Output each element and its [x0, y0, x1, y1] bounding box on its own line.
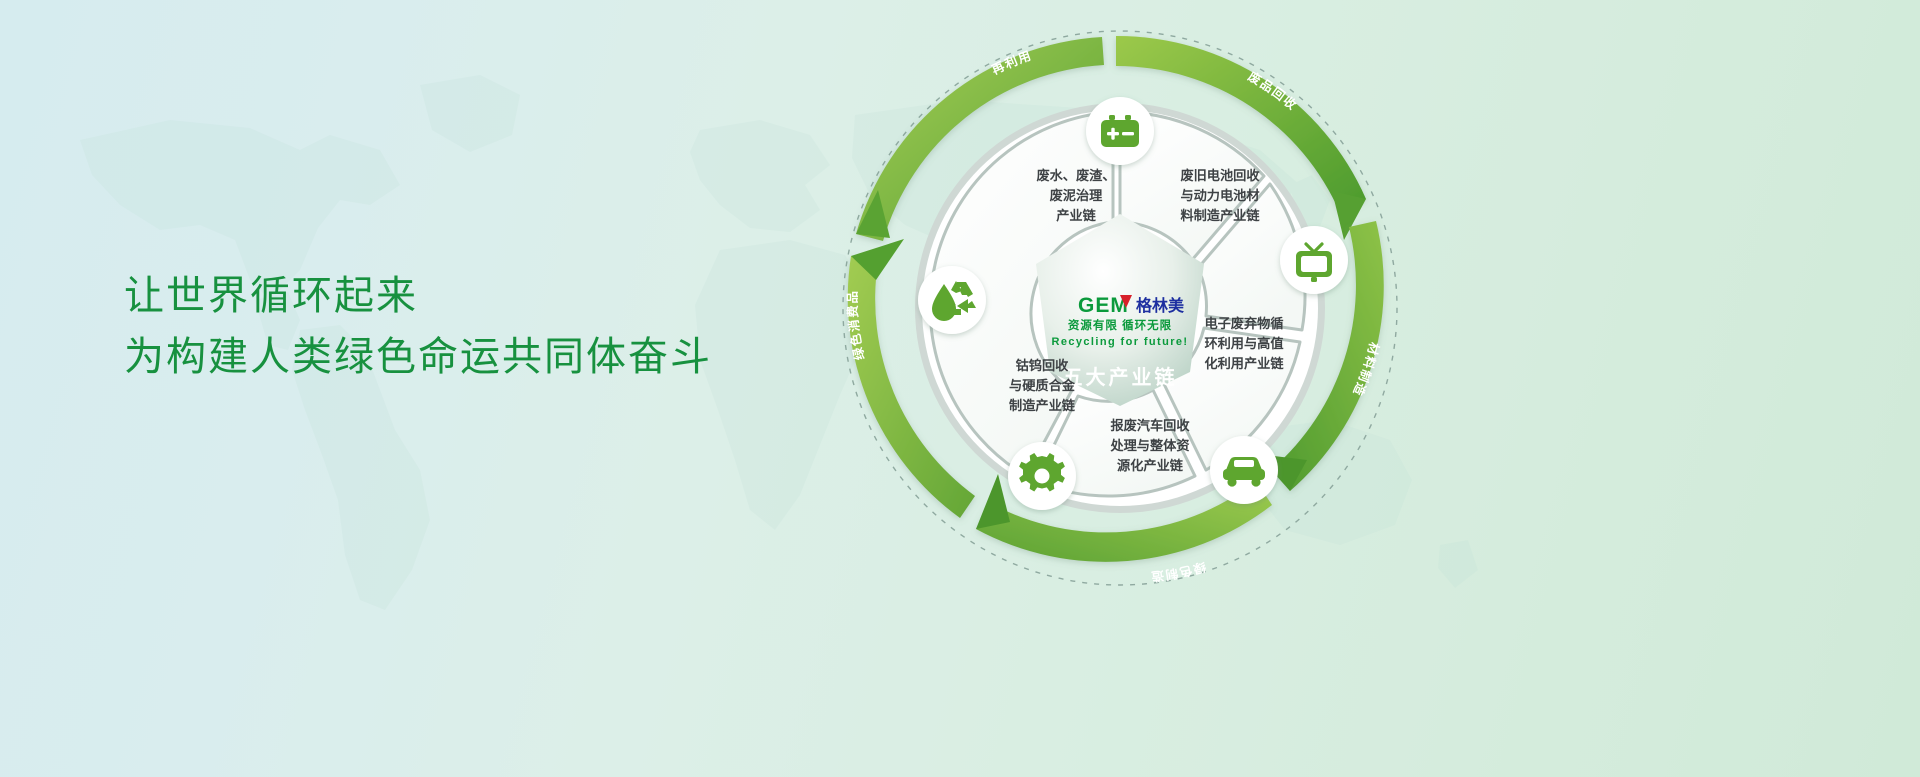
- svg-text:源化产业链: 源化产业链: [1117, 457, 1184, 473]
- label-cobalt-tungsten: 钴钨回收 与硬质合金 制造产业链: [1009, 357, 1076, 413]
- label-scrap-car: 报废汽车回收 处理与整体资 源化产业链: [1109, 417, 1190, 473]
- svg-text:与硬质合金: 与硬质合金: [1009, 377, 1076, 393]
- logo-company-name-cn: 格林美: [1136, 296, 1185, 315]
- center-title: 五大产业链: [1063, 365, 1178, 389]
- svg-text:处理与整体资: 处理与整体资: [1109, 437, 1189, 453]
- logo-slogan-cn: 资源有限 循环无限: [1068, 318, 1172, 332]
- svg-text:报废汽车回收: 报废汽车回收: [1110, 417, 1190, 433]
- svg-text:废泥治理: 废泥治理: [1050, 187, 1103, 203]
- headline-line-1: 让世界循环起来: [124, 266, 712, 327]
- diagram-svg: 废品回收 材料制造 绿色制造 绿色消费品 再利用 GEM 格林美 资源有限 循环…: [820, 8, 1420, 608]
- svg-text:制造产业链: 制造产业链: [1009, 397, 1076, 413]
- svg-text:钴钨回收: 钴钨回收: [1016, 357, 1070, 373]
- svg-text:电子废弃物循: 电子废弃物循: [1204, 315, 1283, 331]
- svg-text:废旧电池回收: 废旧电池回收: [1180, 167, 1260, 183]
- svg-text:与动力电池材: 与动力电池材: [1180, 187, 1259, 203]
- logo-slogan-en: Recycling for future!: [1052, 336, 1189, 348]
- headline-line-2: 为构建人类绿色命运共同体奋斗: [124, 327, 712, 388]
- label-e-waste: 电子废弃物循 环利用与高值 化利用产业链: [1204, 315, 1284, 371]
- svg-text:废水、废渣、: 废水、废渣、: [1036, 167, 1115, 183]
- svg-text:料制造产业链: 料制造产业链: [1180, 207, 1260, 223]
- svg-text:环利用与高值: 环利用与高值: [1204, 335, 1283, 351]
- svg-text:产业链: 产业链: [1056, 207, 1096, 223]
- page-headline: 让世界循环起来 为构建人类绿色命运共同体奋斗: [124, 266, 712, 388]
- arc-label-green-manufacture: 绿色制造: [1149, 559, 1207, 584]
- label-waste-battery: 废旧电池回收 与动力电池材 料制造产业链: [1180, 167, 1260, 223]
- svg-text:化利用产业链: 化利用产业链: [1204, 355, 1284, 371]
- five-industry-chain-diagram: 废品回收 材料制造 绿色制造 绿色消费品 再利用 GEM 格林美 资源有限 循环…: [820, 8, 1420, 608]
